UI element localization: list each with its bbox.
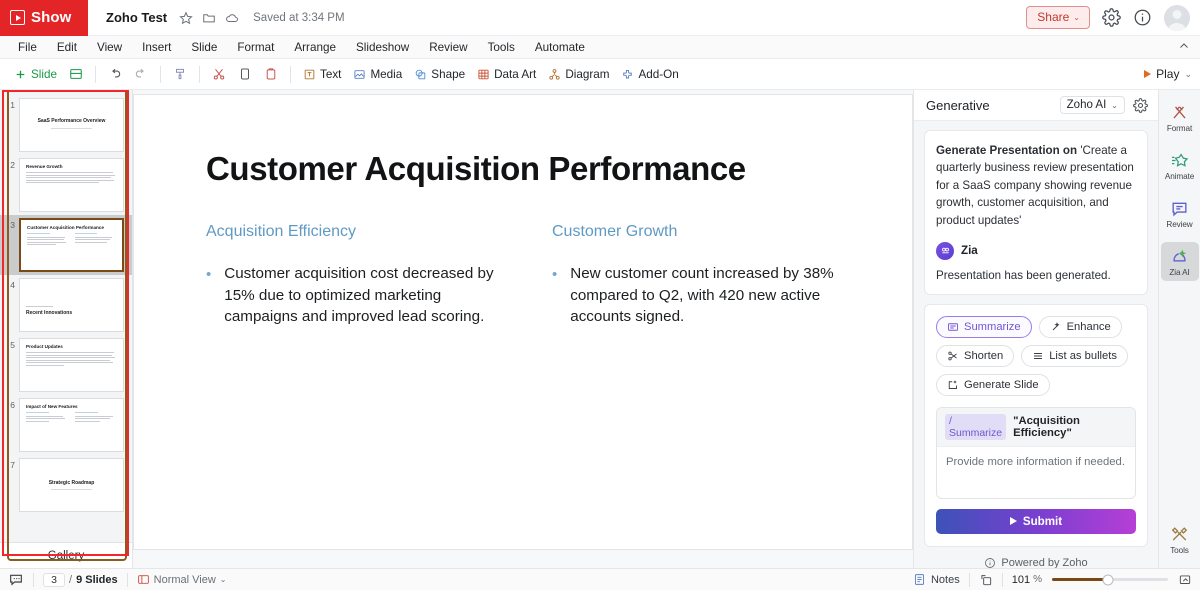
thumbnail-preview-active[interactable]: Customer Acquisition Performance xyxy=(19,218,124,272)
chip-label: Shorten xyxy=(964,350,1003,362)
zoom-slider[interactable] xyxy=(1052,578,1168,581)
insert-data-art-button[interactable]: Data Art xyxy=(471,65,542,84)
rail-item-format[interactable]: Format xyxy=(1161,98,1199,137)
chip-label: Summarize xyxy=(964,321,1021,333)
thumbnail-preview[interactable]: Recent Innovations xyxy=(19,278,124,332)
slide-column-1: Acquisition Efficiency • Customer acquis… xyxy=(206,223,494,329)
insert-media-label: Media xyxy=(370,68,402,81)
favorite-star-icon[interactable] xyxy=(179,11,193,25)
shorten-scissors-icon xyxy=(947,350,959,362)
menu-format[interactable]: Format xyxy=(227,39,284,56)
chevron-down-icon: ⌄ xyxy=(1111,101,1118,110)
zia-prompt-prefix: Generate Presentation on xyxy=(936,144,1080,157)
menu-review[interactable]: Review xyxy=(419,39,477,56)
slide-columns: Acquisition Efficiency • Customer acquis… xyxy=(206,223,840,329)
show-logo-icon xyxy=(10,10,25,25)
gallery-button[interactable]: Gallery xyxy=(0,542,132,568)
chevron-down-icon: ⌄ xyxy=(220,575,227,584)
bullet-dot-icon: • xyxy=(206,264,211,329)
rail-item-animate[interactable]: Animate xyxy=(1161,146,1199,185)
zia-slash-command-tag: / Summarize xyxy=(945,414,1006,440)
thumbnail-title: SaaS Performance Overview xyxy=(26,118,117,125)
slide-thumbnail-panel[interactable]: 1 SaaS Performance Overview 2 Revenue Gr… xyxy=(0,90,133,568)
workspace: 1 SaaS Performance Overview 2 Revenue Gr… xyxy=(0,90,1200,568)
rail-item-tools[interactable]: Tools xyxy=(1161,520,1199,559)
status-divider-3 xyxy=(969,573,970,587)
toolbar: Slide Text Medi xyxy=(0,59,1200,90)
slide-canvas-area: Customer Acquisition Performance Acquisi… xyxy=(133,90,913,568)
ai-model-label: Zoho AI xyxy=(1067,99,1107,111)
title-icon-group: Saved at 3:34 PM xyxy=(179,11,344,25)
presenter-view-icon xyxy=(1178,573,1192,587)
zia-ai-icon xyxy=(1170,247,1189,266)
user-avatar[interactable] xyxy=(1164,5,1190,31)
toolbar-divider-4 xyxy=(290,66,291,83)
rail-label: Zia AI xyxy=(1169,268,1189,277)
zia-settings-gear-icon[interactable] xyxy=(1133,98,1148,113)
notes-icon xyxy=(913,573,926,586)
fit-slide-icon xyxy=(979,573,993,587)
rail-label: Tools xyxy=(1170,546,1189,555)
chip-list-as-bullets[interactable]: List as bullets xyxy=(1021,345,1128,367)
insert-diagram-label: Diagram xyxy=(565,68,609,81)
tools-icon xyxy=(1170,525,1189,544)
menu-automate[interactable]: Automate xyxy=(525,39,595,56)
zoom-level-value[interactable]: 101 xyxy=(1012,574,1030,586)
play-button[interactable]: Play ⌄ xyxy=(1136,64,1200,84)
thumbnail-title: Product Updates xyxy=(26,344,117,349)
status-bar-right: Notes 101 % xyxy=(913,573,1192,587)
slide-column-2: Customer Growth • New customer count inc… xyxy=(552,223,840,329)
thumbnail-item-4[interactable]: 4 Recent Innovations xyxy=(0,275,132,335)
slide-column-heading[interactable]: Customer Growth xyxy=(552,223,840,241)
slide-layout-button[interactable] xyxy=(63,64,89,84)
zoom-slider-fill xyxy=(1052,578,1108,581)
zia-conversation-card: Generate Presentation on 'Create a quart… xyxy=(924,130,1148,295)
insert-text-button[interactable]: Text xyxy=(297,65,347,84)
thumbnail-item-1[interactable]: 1 SaaS Performance Overview xyxy=(0,95,132,155)
rail-label: Format xyxy=(1167,124,1192,133)
insert-shape-label: Shape xyxy=(431,68,465,81)
current-slide-input[interactable]: 3 xyxy=(43,573,65,587)
zia-avatar-icon xyxy=(936,242,954,260)
insert-media-button[interactable]: Media xyxy=(347,65,408,84)
play-triangle-icon xyxy=(1144,70,1151,78)
zia-assistant-row: Zia xyxy=(936,242,1136,260)
format-painter-button[interactable] xyxy=(167,64,193,84)
thumbnail-item-5[interactable]: 5 Product Updates xyxy=(0,335,132,395)
slide-column-heading[interactable]: Acquisition Efficiency xyxy=(206,223,494,241)
slide-bullet-text: Customer acquisition cost decreased by 1… xyxy=(224,263,494,329)
thumbnail-number: 4 xyxy=(4,278,19,290)
thumbnail-number: 5 xyxy=(4,338,19,350)
gallery-label: Gallery xyxy=(48,550,84,562)
zia-prompt: Generate Presentation on 'Create a quart… xyxy=(936,142,1136,229)
thumbnail-title: Recent Innovations xyxy=(26,310,117,316)
thumbnail-title: Revenue Growth xyxy=(26,164,117,169)
toolbar-divider xyxy=(95,66,96,83)
generate-slide-icon xyxy=(947,379,959,391)
redo-button[interactable] xyxy=(128,64,154,84)
paste-button[interactable] xyxy=(258,64,284,84)
thumbnail-columns xyxy=(26,412,117,422)
view-mode-label: Normal View xyxy=(154,574,216,586)
thumbnail-number: 7 xyxy=(4,458,19,470)
thumbnail-title: Customer Acquisition Performance xyxy=(27,225,116,230)
notes-label: Notes xyxy=(931,574,960,586)
bullet-list-icon xyxy=(1032,350,1044,362)
info-icon[interactable] xyxy=(1133,8,1152,27)
thumbnail-eyebrow xyxy=(26,300,117,304)
chip-summarize[interactable]: Summarize xyxy=(936,316,1032,338)
chip-label: Enhance xyxy=(1067,321,1111,333)
zia-panel-title: Generative xyxy=(926,98,990,113)
chevron-down-icon: ⌄ xyxy=(1073,13,1080,22)
thumbnail-number: 1 xyxy=(4,98,19,110)
thumbnail-columns xyxy=(27,233,116,245)
zia-panel-header: Generative Zoho AI ⌄ xyxy=(914,90,1158,121)
undo-button[interactable] xyxy=(102,64,128,84)
zia-ai-panel: Generative Zoho AI ⌄ Generate Presentati… xyxy=(913,90,1158,568)
share-button[interactable]: Share ⌄ xyxy=(1026,6,1090,29)
format-icon xyxy=(1170,103,1189,122)
thumbnail-preview[interactable]: Revenue Growth xyxy=(19,158,124,212)
zoom-percent-sign: % xyxy=(1033,574,1042,585)
menu-slide[interactable]: Slide xyxy=(181,39,227,56)
zia-action-chips: Summarize Enhance Shorten List as bullet… xyxy=(936,316,1136,396)
app-logo[interactable]: Show xyxy=(0,0,88,36)
thumbnail-preview[interactable]: Product Updates xyxy=(19,338,124,392)
thumbnail-preview[interactable]: Strategic Roadmap xyxy=(19,458,124,512)
fit-to-window-button[interactable] xyxy=(979,573,993,587)
add-slide-button[interactable]: Slide xyxy=(8,65,63,84)
bullet-dot-icon: • xyxy=(552,264,557,329)
zia-input-target: "Acquisition Efficiency" xyxy=(1013,415,1127,439)
thumbnail-item-6[interactable]: 6 Impact of New Features xyxy=(0,395,132,455)
normal-view-icon xyxy=(137,573,150,586)
menu-tools[interactable]: Tools xyxy=(478,39,525,56)
summarize-icon xyxy=(947,321,959,333)
enhance-wand-icon xyxy=(1050,321,1062,333)
play-label: Play xyxy=(1156,67,1179,81)
insert-diagram-button[interactable]: Diagram xyxy=(542,65,615,84)
copy-button[interactable] xyxy=(232,64,258,84)
insert-data-art-label: Data Art xyxy=(494,68,536,81)
submit-arrow-icon xyxy=(1010,517,1017,525)
chip-enhance[interactable]: Enhance xyxy=(1039,316,1122,338)
zia-header-actions: Zoho AI ⌄ xyxy=(1060,96,1148,114)
title-bar: Show Zoho Test Saved at 3:34 PM Share ⌄ xyxy=(0,0,1200,36)
right-icon-rail: Format Animate Review Zia AI Tools xyxy=(1158,90,1200,568)
slide-bullet-item[interactable]: • Customer acquisition cost decreased by… xyxy=(206,263,494,329)
slide-bullet-item[interactable]: • New customer count increased by 38% co… xyxy=(552,263,840,329)
rail-item-review[interactable]: Review xyxy=(1161,194,1199,233)
document-title[interactable]: Zoho Test xyxy=(106,10,167,25)
toolbar-right: Play ⌄ xyxy=(1136,64,1200,84)
zoom-slider-handle[interactable] xyxy=(1102,574,1113,585)
status-divider xyxy=(33,573,34,587)
thumbnail-number: 2 xyxy=(4,158,19,170)
menu-bar: File Edit View Insert Slide Format Arran… xyxy=(0,36,1200,59)
saved-status: Saved at 3:34 PM xyxy=(253,12,344,24)
rail-label: Animate xyxy=(1165,172,1194,181)
cloud-saved-icon xyxy=(225,11,239,25)
thumbnail-title: Strategic Roadmap xyxy=(26,480,117,486)
thumbnail-item-2[interactable]: 2 Revenue Growth xyxy=(0,155,132,215)
settings-gear-icon[interactable] xyxy=(1102,8,1121,27)
slide-slash: / xyxy=(69,574,72,586)
status-bar: 3 / 9 Slides Normal View ⌄ Notes 101 % xyxy=(0,568,1200,590)
toolbar-divider-3 xyxy=(199,66,200,83)
zia-input-header: / Summarize "Acquisition Efficiency" xyxy=(937,408,1135,447)
menu-edit[interactable]: Edit xyxy=(47,39,87,56)
status-divider-4 xyxy=(1002,573,1003,587)
thumbnail-item-7[interactable]: 7 Strategic Roadmap xyxy=(0,455,132,515)
menu-insert[interactable]: Insert xyxy=(132,39,181,56)
chip-label: List as bullets xyxy=(1049,350,1117,362)
thumbnail-number: 3 xyxy=(4,218,19,230)
share-label: Share xyxy=(1037,10,1069,24)
cut-button[interactable] xyxy=(206,64,232,84)
slide-bullet-text: New customer count increased by 38% comp… xyxy=(570,263,840,329)
thumbnail-item-3[interactable]: 3 Customer Acquisition Performance xyxy=(0,215,132,275)
chip-generate-slide[interactable]: Generate Slide xyxy=(936,374,1050,396)
zia-prompt-input[interactable]: / Summarize "Acquisition Efficiency" Pro… xyxy=(936,407,1136,499)
zoho-show-app: Show Zoho Test Saved at 3:34 PM Share ⌄ … xyxy=(0,0,1200,590)
add-on-button[interactable]: Add-On xyxy=(615,65,684,84)
toolbar-divider-2 xyxy=(160,66,161,83)
add-slide-label: Slide xyxy=(31,68,57,81)
thumbnail-subtitle-rule xyxy=(51,128,93,129)
add-on-label: Add-On xyxy=(638,68,678,81)
ai-model-select[interactable]: Zoho AI ⌄ xyxy=(1060,96,1125,114)
chip-label: Generate Slide xyxy=(964,379,1039,391)
thumbnail-preview[interactable]: Impact of New Features xyxy=(19,398,124,452)
zia-submit-label: Submit xyxy=(1023,515,1062,528)
slide-count-label: 9 Slides xyxy=(76,574,118,586)
zia-submit-button[interactable]: Submit xyxy=(936,509,1136,534)
play-chevron-down-icon[interactable]: ⌄ xyxy=(1184,69,1192,80)
presenter-view-button[interactable] xyxy=(1178,573,1192,587)
thumbnail-number: 6 xyxy=(4,398,19,410)
menu-slideshow[interactable]: Slideshow xyxy=(346,39,419,56)
zia-input-placeholder[interactable]: Provide more information if needed. xyxy=(937,447,1135,477)
title-bar-actions: Share ⌄ xyxy=(1026,5,1200,31)
slide-surface[interactable]: Customer Acquisition Performance Acquisi… xyxy=(133,94,913,550)
thumbnail-body-lines xyxy=(26,172,117,183)
thumbnail-title: Impact of New Features xyxy=(26,404,117,409)
zia-assistant-reply: Presentation has been generated. xyxy=(936,269,1136,282)
brand-name: Show xyxy=(31,9,71,26)
insert-text-label: Text xyxy=(320,68,341,81)
insert-shape-button[interactable]: Shape xyxy=(408,65,471,84)
collapse-ribbon-icon[interactable] xyxy=(1178,40,1200,55)
rail-label: Review xyxy=(1166,220,1192,229)
menu-view[interactable]: View xyxy=(87,39,132,56)
thumbnail-body-lines xyxy=(26,352,117,366)
review-icon xyxy=(1170,199,1189,218)
thumbnail-preview[interactable]: SaaS Performance Overview xyxy=(19,98,124,152)
folder-icon[interactable] xyxy=(202,11,216,25)
zia-actions-card: Summarize Enhance Shorten List as bullet… xyxy=(924,304,1148,547)
zia-assistant-name: Zia xyxy=(961,244,978,257)
view-mode-select[interactable]: Normal View ⌄ xyxy=(137,573,227,586)
slide-title[interactable]: Customer Acquisition Performance xyxy=(206,150,840,188)
comments-icon[interactable] xyxy=(8,572,24,588)
chip-shorten[interactable]: Shorten xyxy=(936,345,1014,367)
rail-item-zia-ai[interactable]: Zia AI xyxy=(1161,242,1199,281)
menu-file[interactable]: File xyxy=(8,39,47,56)
animate-icon xyxy=(1170,151,1189,170)
notes-button[interactable]: Notes xyxy=(913,573,960,586)
thumbnail-subtitle-rule xyxy=(51,489,93,490)
status-divider-2 xyxy=(127,573,128,587)
menu-arrange[interactable]: Arrange xyxy=(284,39,346,56)
